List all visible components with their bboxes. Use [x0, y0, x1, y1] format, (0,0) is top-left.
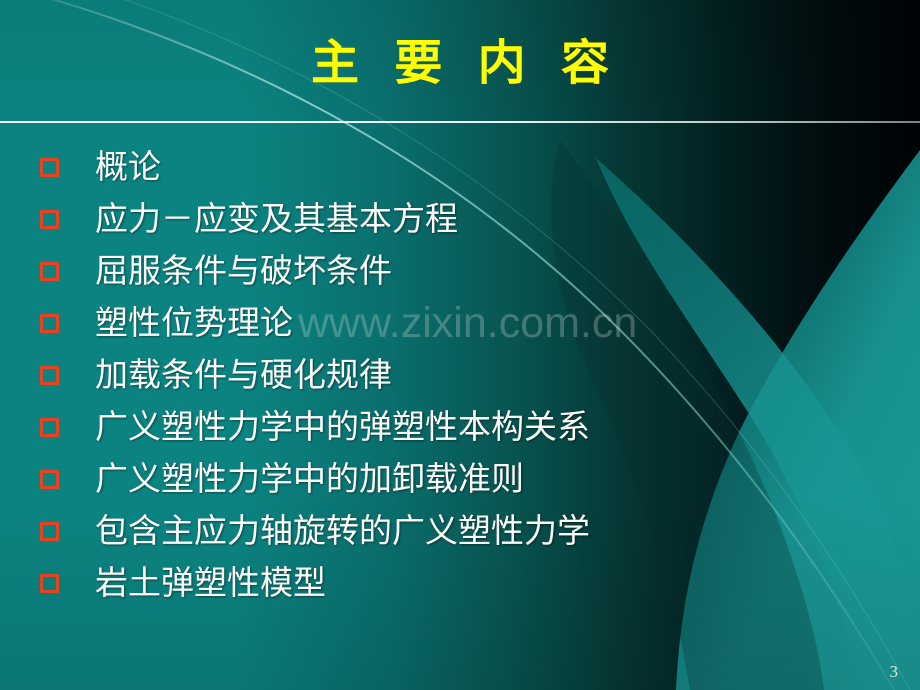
list-item[interactable]: 岩土弹塑性模型 [40, 557, 880, 609]
list-item-label: 广义塑性力学中的加卸载准则 [95, 459, 524, 499]
list-item-label: 岩土弹塑性模型 [95, 563, 326, 603]
bullet-square-icon [40, 470, 59, 489]
list-item[interactable]: 包含主应力轴旋转的广义塑性力学 [40, 505, 880, 557]
bullet-square-icon [40, 210, 59, 229]
content-outline-list: 概论 应力－应变及其基本方程 屈服条件与破坏条件 塑性位势理论 加载条件与硬化规… [40, 141, 880, 609]
page-number: 3 [890, 662, 899, 682]
bullet-square-icon [40, 366, 59, 385]
header-divider-line [0, 121, 920, 123]
bullet-square-icon [40, 158, 59, 177]
list-item-label: 应力－应变及其基本方程 [95, 199, 458, 239]
bullet-square-icon [40, 262, 59, 281]
list-item-label: 包含主应力轴旋转的广义塑性力学 [95, 511, 590, 551]
bullet-square-icon [40, 418, 59, 437]
list-item[interactable]: 概论 [40, 141, 880, 193]
presentation-slide: 主 要 内 容 www.zixin.com.cn 概论 应力－应变及其基本方程 … [0, 0, 920, 690]
list-item-label: 屈服条件与破坏条件 [95, 251, 392, 291]
list-item[interactable]: 广义塑性力学中的加卸载准则 [40, 453, 880, 505]
list-item-label: 广义塑性力学中的弹塑性本构关系 [95, 407, 590, 447]
list-item[interactable]: 广义塑性力学中的弹塑性本构关系 [40, 401, 880, 453]
list-item-label: 塑性位势理论 [95, 303, 293, 343]
bullet-square-icon [40, 314, 59, 333]
list-item[interactable]: 塑性位势理论 [40, 297, 880, 349]
page-title: 主 要 内 容 [0, 34, 920, 94]
bullet-square-icon [40, 522, 59, 541]
list-item[interactable]: 应力－应变及其基本方程 [40, 193, 880, 245]
list-item-label: 加载条件与硬化规律 [95, 355, 392, 395]
bullet-square-icon [40, 574, 59, 593]
list-item[interactable]: 加载条件与硬化规律 [40, 349, 880, 401]
list-item[interactable]: 屈服条件与破坏条件 [40, 245, 880, 297]
list-item-label: 概论 [95, 147, 161, 187]
